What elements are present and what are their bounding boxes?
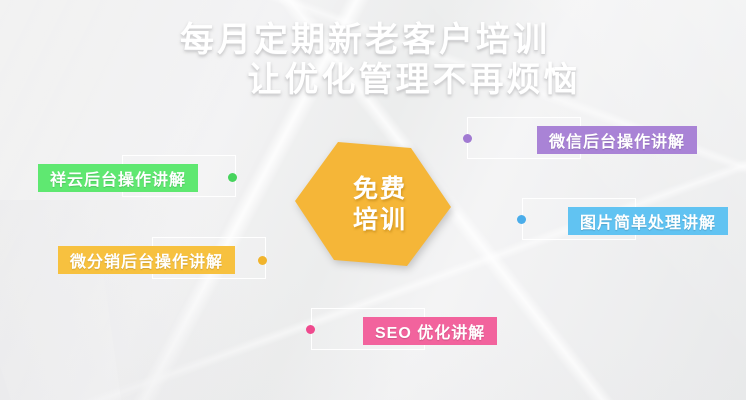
hexagon-label: 免费 培训 xyxy=(294,141,452,268)
hexagon-label-line-1: 免费 xyxy=(353,174,407,205)
branch-pink-label[interactable]: SEO 优化讲解 xyxy=(363,317,497,345)
promo-poster: 每月定期新老客户培训 让优化管理不再烦恼 免费 培训 祥云后台操作讲解 微分销后… xyxy=(0,0,746,400)
branch-green[interactable]: 祥云后台操作讲解 xyxy=(38,150,248,202)
hexagon-label-line-2: 培训 xyxy=(353,205,407,236)
branch-pink-dot-icon xyxy=(306,325,315,334)
branch-blue-label[interactable]: 图片简单处理讲解 xyxy=(568,207,728,235)
branch-purple-label[interactable]: 微信后台操作讲解 xyxy=(537,126,697,154)
branch-blue[interactable]: 图片简单处理讲解 xyxy=(516,193,730,245)
branch-blue-dot-icon xyxy=(517,215,526,224)
branch-orange[interactable]: 微分销后台操作讲解 xyxy=(58,232,273,284)
title-line-2: 让优化管理不再烦恼 xyxy=(0,60,746,100)
branch-orange-dot-icon xyxy=(258,256,267,265)
branch-green-label[interactable]: 祥云后台操作讲解 xyxy=(38,164,198,192)
poster-title: 每月定期新老客户培训 让优化管理不再烦恼 xyxy=(0,20,746,100)
branch-purple[interactable]: 微信后台操作讲解 xyxy=(462,112,674,164)
branch-pink[interactable]: SEO 优化讲解 xyxy=(305,303,510,355)
title-line-1: 每月定期新老客户培训 xyxy=(0,20,746,60)
branch-purple-dot-icon xyxy=(463,134,472,143)
center-hexagon: 免费 培训 xyxy=(294,141,452,268)
branch-orange-label[interactable]: 微分销后台操作讲解 xyxy=(58,246,235,274)
branch-green-dot-icon xyxy=(228,173,237,182)
